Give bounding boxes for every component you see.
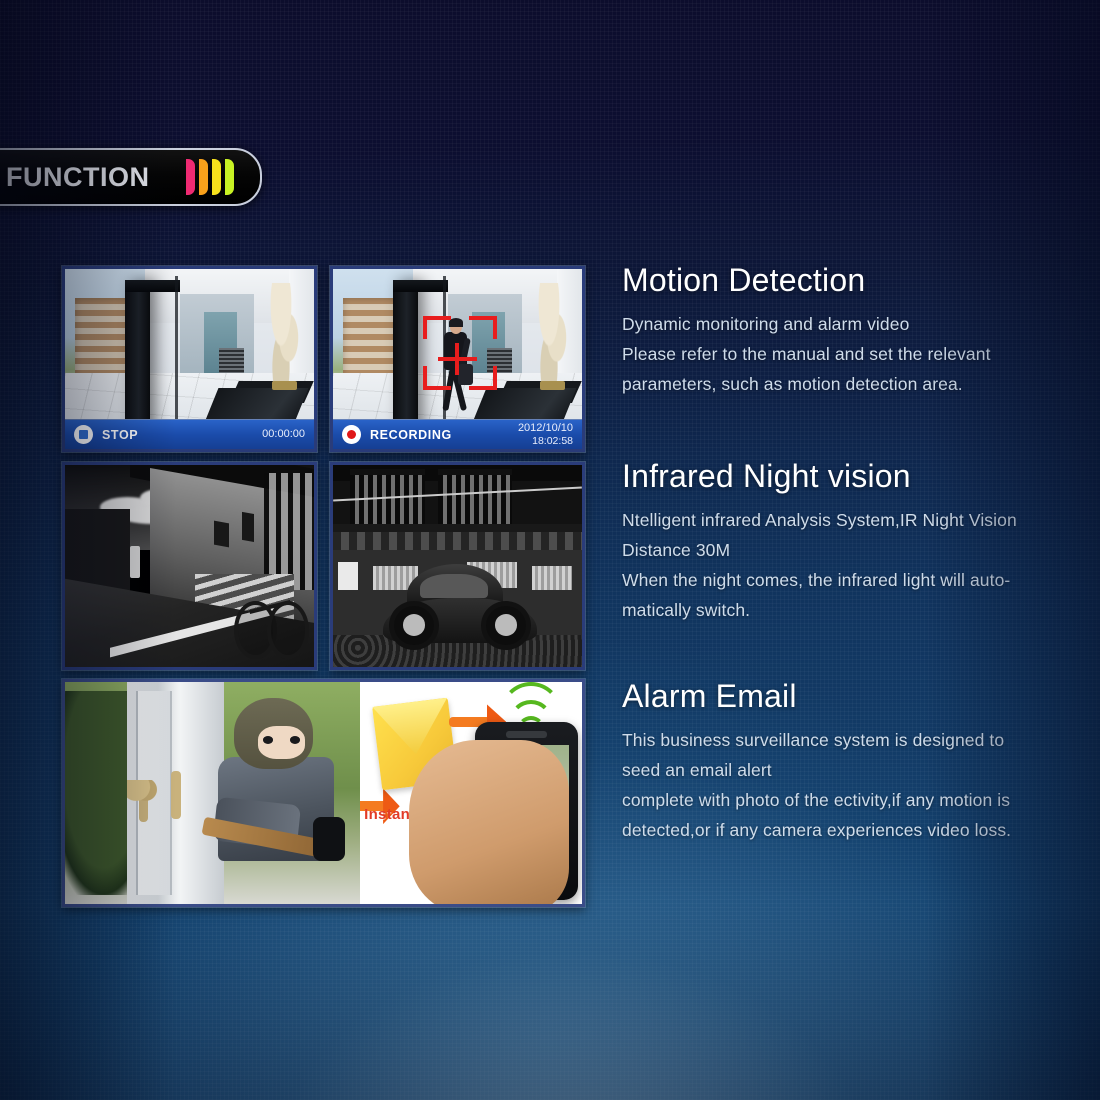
- section-alarm-email: Alarm Email This business surveillance s…: [622, 678, 1092, 845]
- section-line: Dynamic monitoring and alarm video: [622, 309, 1092, 339]
- hand-holding-phone: [409, 740, 569, 904]
- section-line: Please refer to the manual and set the r…: [622, 339, 1092, 369]
- section-line: parameters, such as motion detection are…: [622, 369, 1092, 399]
- camera-recording-timestamp: 2012/10/10 18:02:58: [518, 422, 573, 447]
- recording-date: 2012/10/10: [518, 422, 573, 434]
- ir-alley-image: [65, 465, 314, 667]
- camera-stop-thumbnail: STOP 00:00:00: [62, 266, 317, 452]
- color-bars-icon: [186, 159, 234, 195]
- color-bar-4: [225, 159, 234, 195]
- motion-detection-box: [423, 316, 498, 390]
- ir-alley-thumbnail: [62, 462, 317, 670]
- camera-stop-status-bar: STOP 00:00:00: [65, 419, 314, 449]
- section-infrared-night-vision: Infrared Night vision Ntelligent infrare…: [622, 458, 1092, 625]
- promo-page: FUNCTION: [0, 0, 1100, 1100]
- beetle-car: [383, 570, 537, 643]
- section-line: Ntelligent infrared Analysis System,IR N…: [622, 505, 1092, 535]
- section-title: Motion Detection: [622, 262, 1092, 299]
- stop-square-icon: [74, 425, 93, 444]
- section-line: matically switch.: [622, 595, 1092, 625]
- section-title: Alarm Email: [622, 678, 1092, 715]
- section-line: detected,or if any camera experiences vi…: [622, 815, 1092, 845]
- burglar-photo: [65, 682, 360, 904]
- email-alert-illustration: Instant Email: [360, 682, 582, 904]
- burglar-figure: [212, 698, 348, 898]
- section-motion-detection: Motion Detection Dynamic monitoring and …: [622, 262, 1092, 399]
- record-dot-icon: [342, 425, 361, 444]
- camera-recording-thumbnail: RECORDING 2012/10/10 18:02:58: [330, 266, 585, 452]
- color-bar-2: [199, 159, 208, 195]
- color-bar-3: [212, 159, 221, 195]
- section-line: seed an email alert: [622, 755, 1092, 785]
- ir-car-image: [333, 465, 582, 667]
- camera-recording-label: RECORDING: [370, 428, 518, 442]
- section-line: complete with photo of the ectivity,if a…: [622, 785, 1092, 815]
- function-banner-label: FUNCTION: [6, 162, 186, 193]
- section-title: Infrared Night vision: [622, 458, 1092, 495]
- alarm-email-thumbnail: Instant Email: [62, 679, 585, 907]
- section-line: This business surveillance system is des…: [622, 725, 1092, 755]
- ir-car-thumbnail: [330, 462, 585, 670]
- recording-time: 18:02:58: [532, 435, 573, 447]
- function-banner: FUNCTION: [0, 148, 262, 206]
- color-bar-1: [186, 159, 195, 195]
- camera-recording-status-bar: RECORDING 2012/10/10 18:02:58: [333, 419, 582, 449]
- alarm-email-image: Instant Email: [65, 682, 582, 904]
- camera-stop-label: STOP: [102, 428, 262, 442]
- section-line: When the night comes, the infrared light…: [622, 565, 1092, 595]
- camera-stop-timecode: 00:00:00: [262, 428, 305, 441]
- section-line: Distance 30M: [622, 535, 1092, 565]
